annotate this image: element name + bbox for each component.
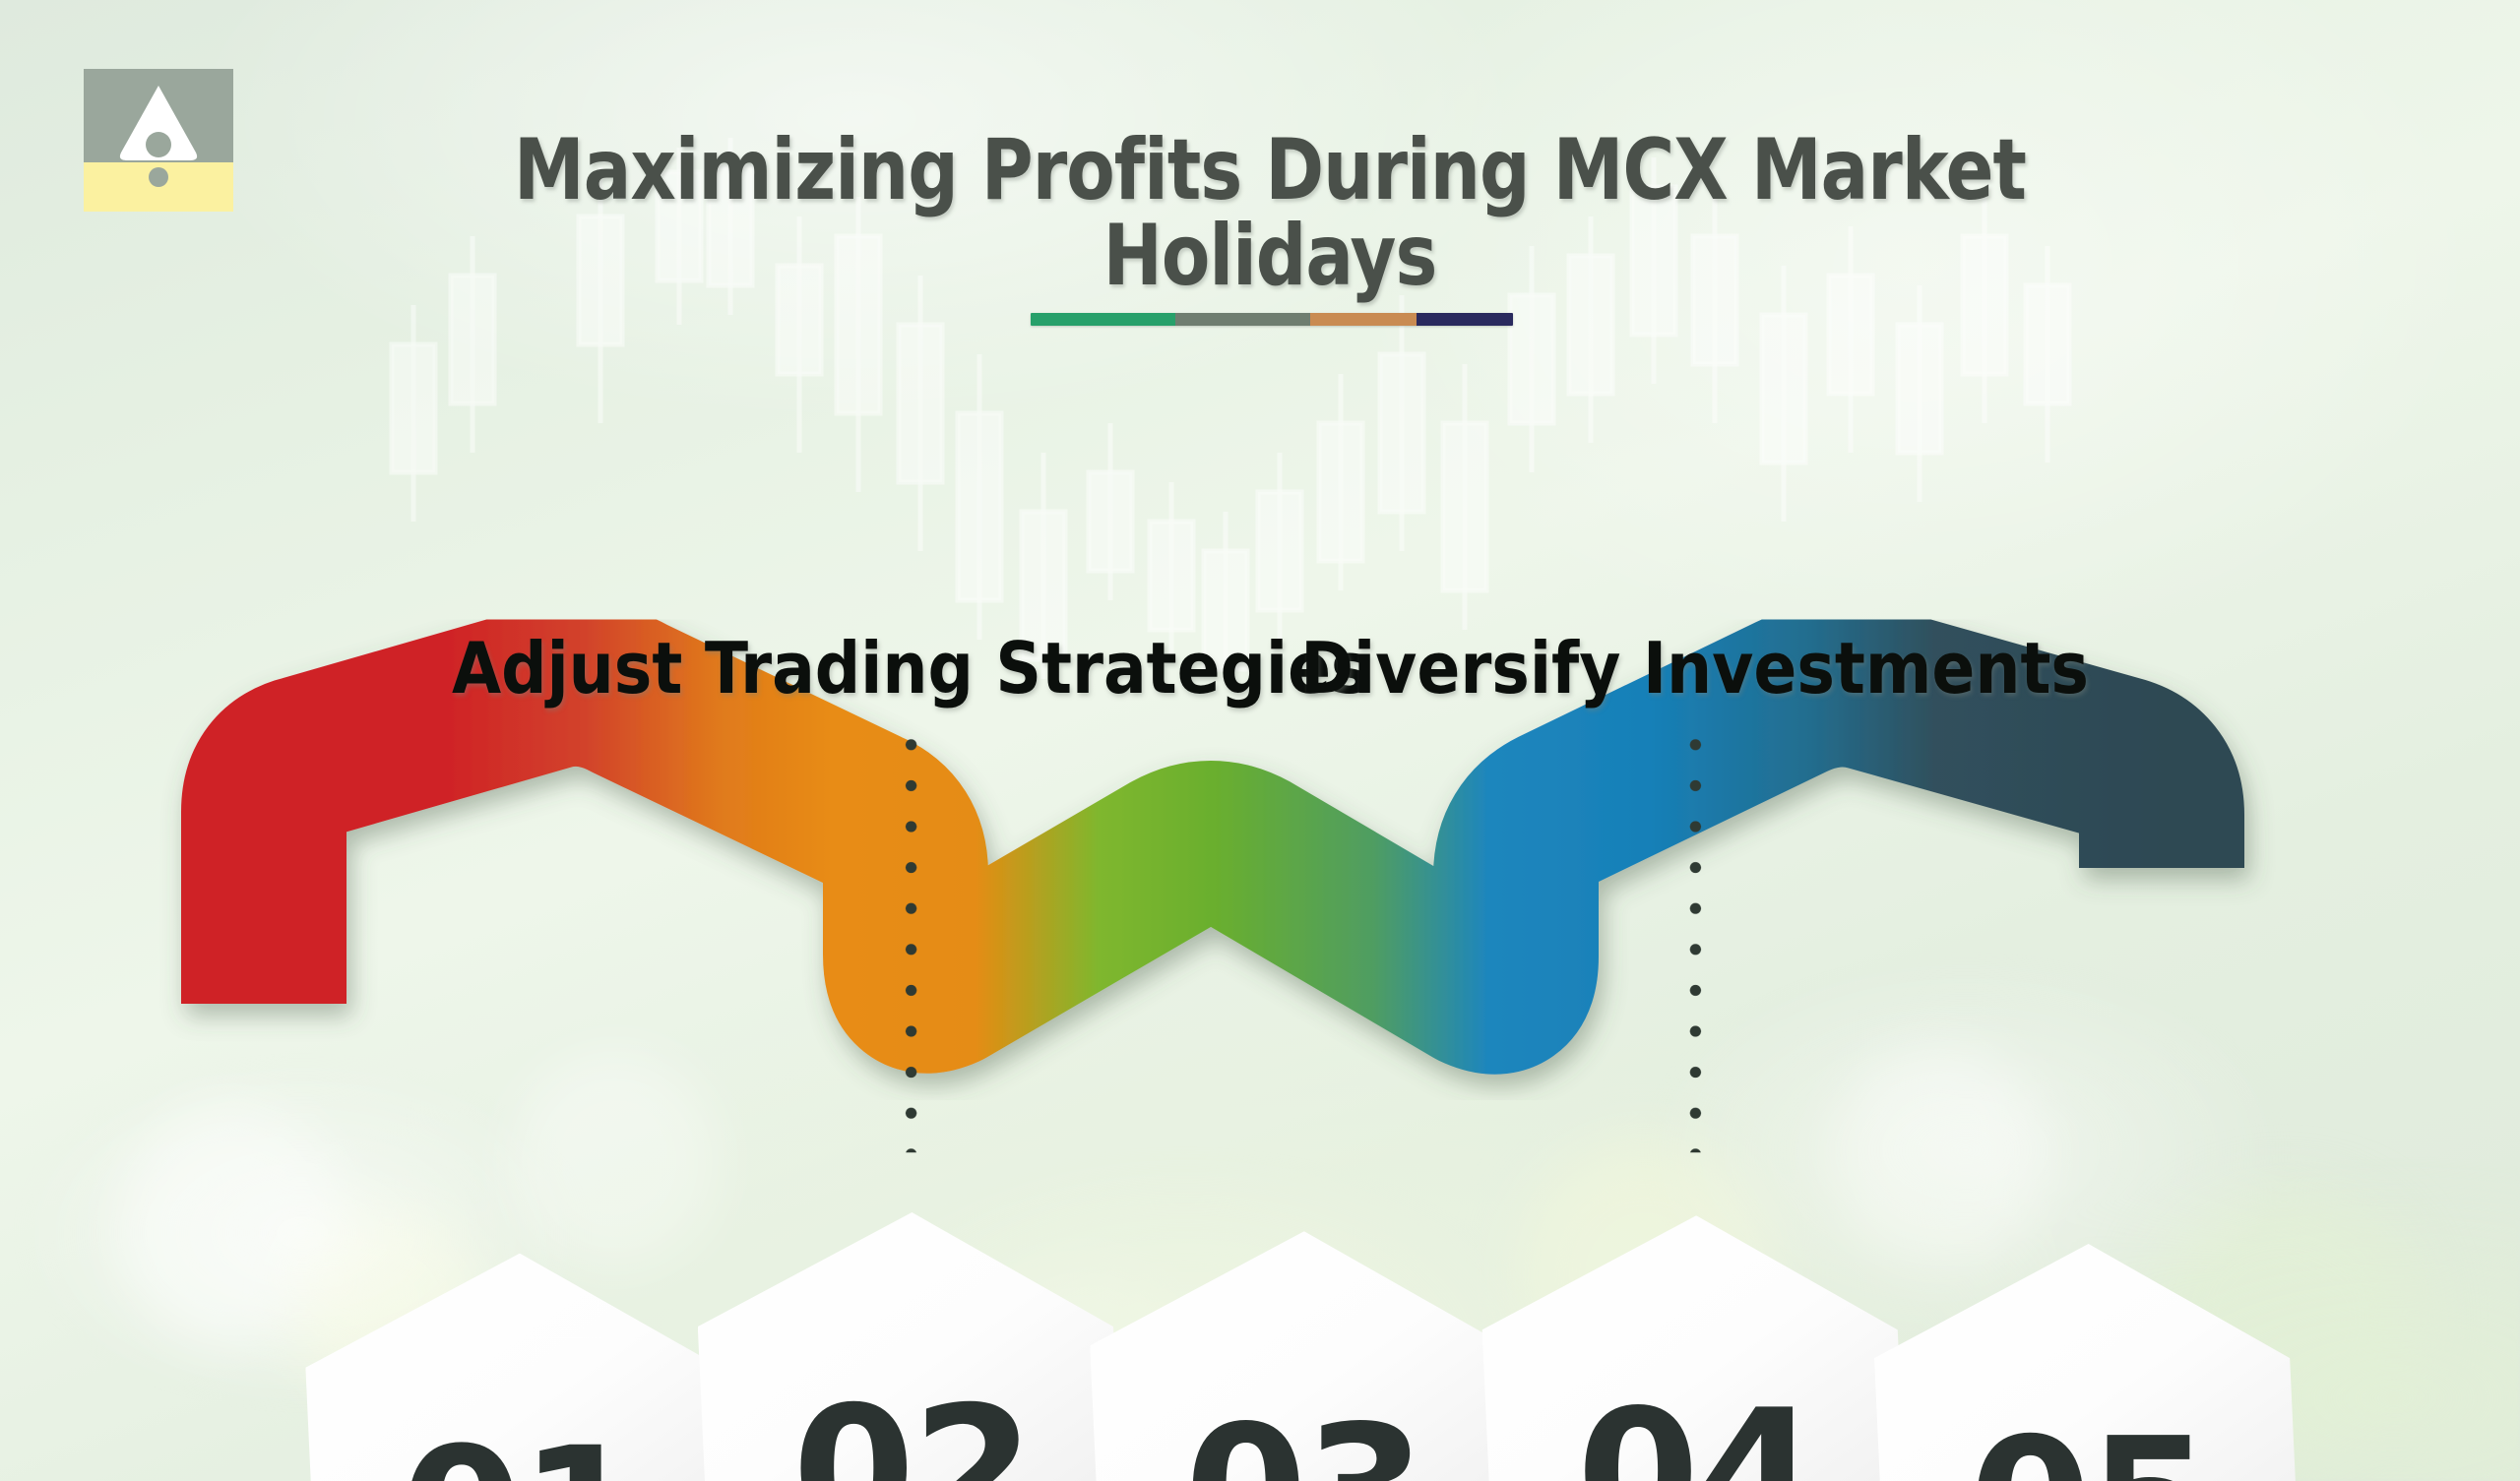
step-number-3: 03 <box>1184 1403 1423 1481</box>
step-number-2: 02 <box>792 1384 1032 1481</box>
step-number-4: 04 <box>1577 1388 1816 1481</box>
connector-dots-step-4 <box>1688 724 1702 1152</box>
step-label-2: Adjust Trading Strategies <box>452 627 1369 710</box>
step-label-4: Diversify Investments <box>1300 627 2089 710</box>
hex-step-4[interactable]: 04 <box>1482 1215 1911 1481</box>
steps-container: 01 Pre-Holiday Analysis 02 Adjust Tradin… <box>0 0 2520 1481</box>
hex-step-1[interactable]: 01 <box>305 1254 733 1481</box>
hex-step-3[interactable]: 03 <box>1090 1231 1518 1481</box>
infographic-canvas: Maximizing Profits During MCX Market Hol… <box>0 0 2520 1481</box>
hex-step-5[interactable]: 05 <box>1874 1244 2302 1481</box>
step-number-5: 05 <box>1969 1415 2208 1481</box>
connector-dots-step-2 <box>904 724 917 1152</box>
hex-step-2[interactable]: 02 <box>698 1212 1126 1481</box>
step-number-1: 01 <box>401 1425 640 1481</box>
